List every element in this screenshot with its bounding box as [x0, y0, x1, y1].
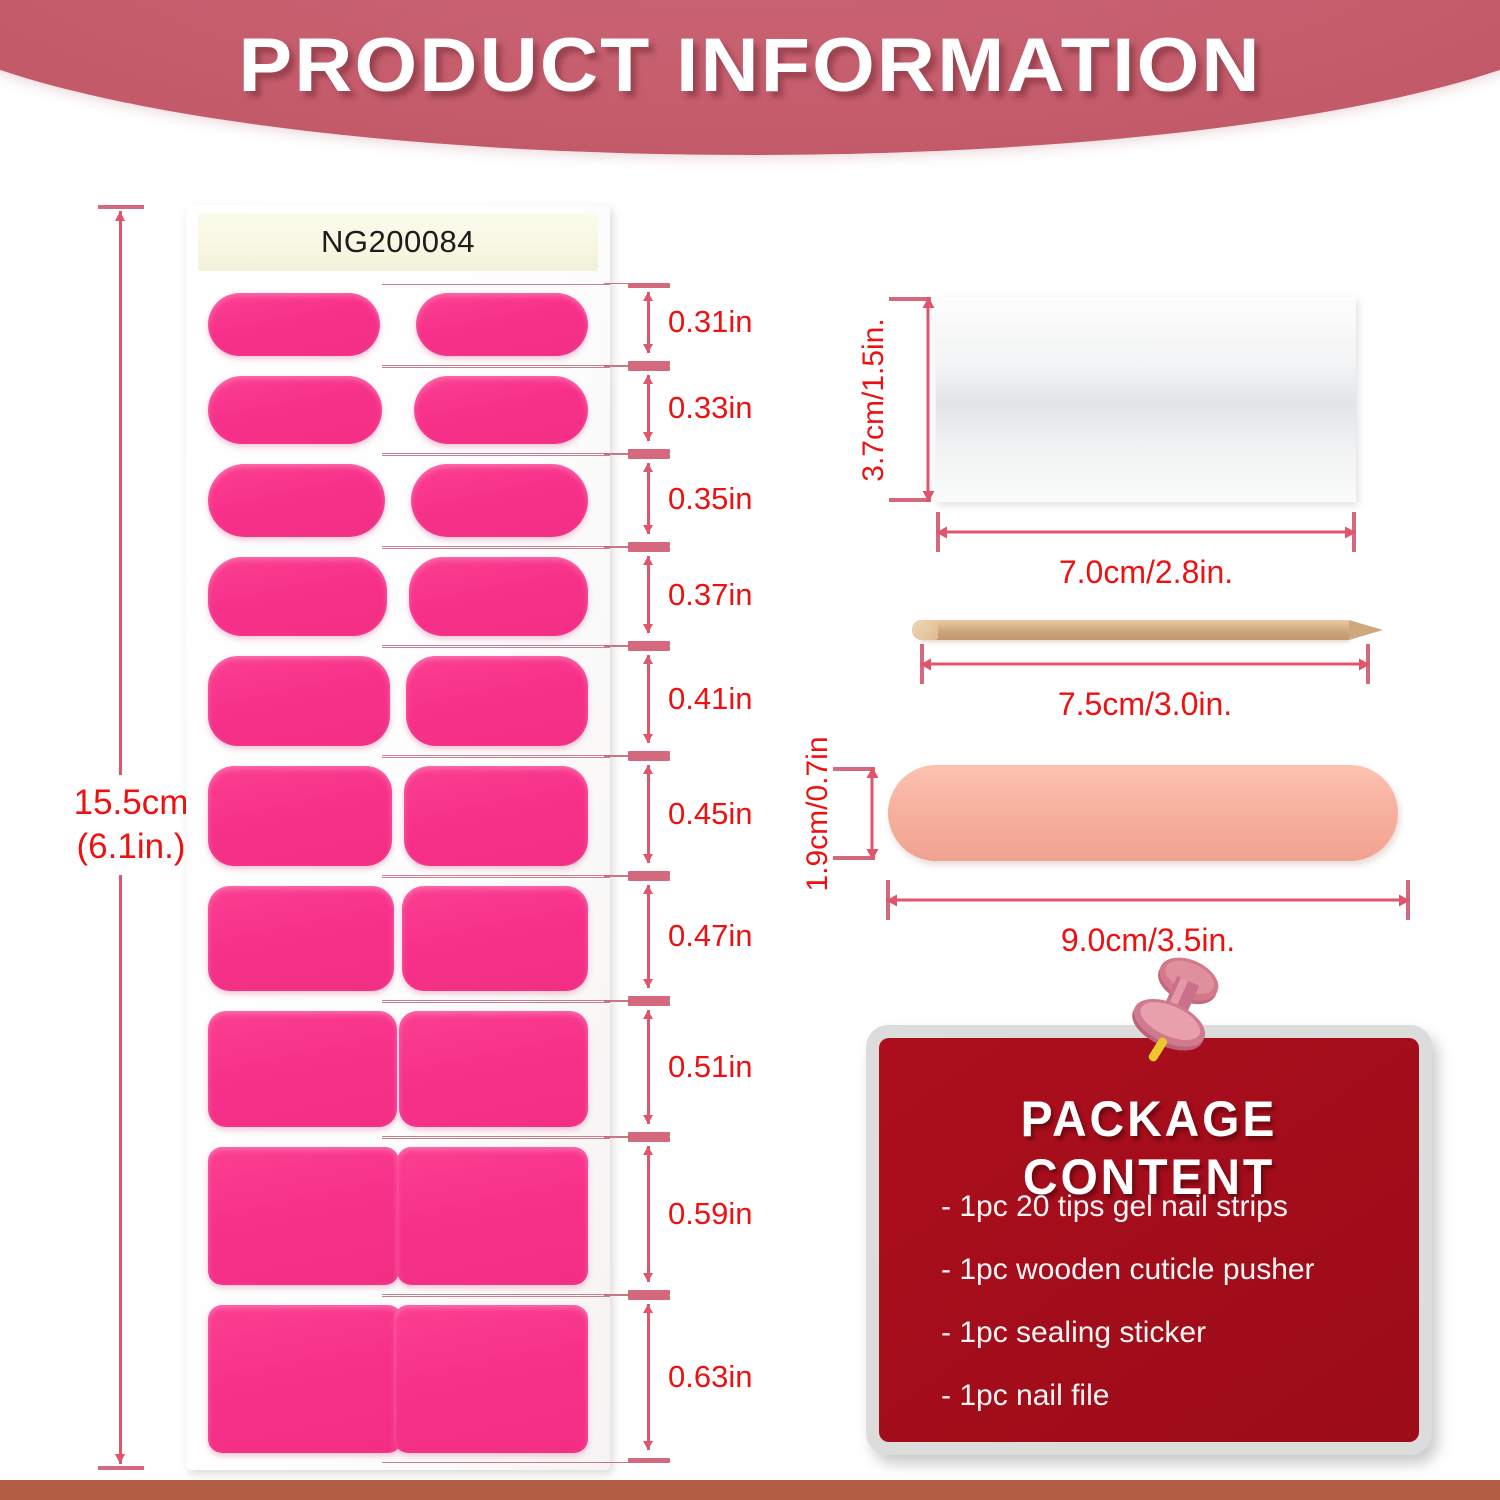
row-guide-line	[382, 1296, 610, 1297]
footer-bar	[0, 1480, 1500, 1500]
row-leader-line	[604, 1001, 630, 1002]
row-dimension-arrow	[647, 375, 650, 441]
row-dimension-arrow	[647, 1010, 650, 1124]
row-dimension-label: 0.33in	[668, 390, 752, 426]
pushpin-icon	[1106, 955, 1236, 1080]
row-dimension-arrow	[647, 655, 650, 742]
total-height-in: (6.1in.)	[56, 825, 206, 869]
nail-strip[interactable]	[409, 557, 588, 636]
row-leader-line	[604, 454, 630, 455]
row-dimension-label: 0.41in	[668, 681, 752, 717]
package-content-item: - 1pc 20 tips gel nail strips	[941, 1190, 1395, 1224]
nail-strip[interactable]	[208, 1305, 402, 1453]
row-guide-line	[382, 548, 610, 549]
nail-strip-row	[186, 646, 610, 755]
nail-strip-grid	[186, 283, 610, 1463]
nail-strip[interactable]	[406, 656, 588, 745]
nail-strip-row	[186, 1001, 610, 1137]
row-guide-line	[382, 367, 610, 368]
row-dimension-tick	[628, 1295, 670, 1300]
row-dimension-arrow	[647, 765, 650, 863]
row-dimension-tick	[628, 1458, 670, 1463]
package-content-panel: PACKAGE CONTENT - 1pc 20 tips gel nail s…	[879, 1038, 1419, 1442]
row-leader-line	[604, 756, 630, 757]
row-guide-line	[382, 877, 610, 878]
row-guide-line	[382, 1002, 610, 1003]
nail-strip[interactable]	[399, 1011, 588, 1127]
sticker-height-dimension: 3.7cm/1.5in.	[908, 297, 948, 502]
nail-strip-row	[186, 366, 610, 454]
row-dimension-label: 0.35in	[668, 481, 752, 517]
total-tick-top	[98, 205, 144, 209]
nail-strip-row	[186, 756, 610, 876]
pusher-length-label: 7.5cm/3.0in.	[920, 686, 1370, 723]
nail-strip[interactable]	[414, 376, 588, 444]
row-dimension-label: 0.37in	[668, 577, 752, 613]
sticker-height-label: 3.7cm/1.5in.	[857, 318, 891, 481]
row-leader-line	[604, 1137, 630, 1138]
nail-strip[interactable]	[208, 464, 385, 537]
row-dimension-arrow	[647, 463, 650, 534]
row-leader-line	[604, 283, 630, 284]
row-dimension-arrow	[647, 1146, 650, 1282]
row-leader-line	[604, 547, 630, 548]
row-guide-line	[382, 1462, 610, 1463]
row-dimension-arrow	[647, 1304, 650, 1450]
total-tick-bottom	[98, 1466, 144, 1470]
package-content-item: - 1pc sealing sticker	[941, 1316, 1395, 1350]
nail-strip[interactable]	[208, 376, 382, 444]
row-leader-line	[604, 1295, 630, 1296]
nail-strip-row	[186, 1137, 610, 1295]
row-leader-line	[604, 876, 630, 877]
nail-strip[interactable]	[208, 1011, 397, 1127]
row-dimension-tick	[628, 283, 670, 288]
row-dimension-label: 0.63in	[668, 1359, 752, 1395]
row-dimension-arrow	[647, 292, 650, 353]
row-guide-line	[382, 757, 610, 758]
nail-strip[interactable]	[402, 886, 588, 991]
row-dimension-tick	[628, 1001, 670, 1006]
nail-strip[interactable]	[208, 766, 392, 866]
nail-strip-sheet[interactable]: NG200084	[186, 205, 610, 1470]
row-dimension-label: 0.31in	[668, 304, 752, 340]
nail-strip[interactable]	[394, 1305, 588, 1453]
nail-strip-row	[186, 283, 610, 366]
nail-strip[interactable]	[208, 656, 390, 745]
row-guide-line	[382, 1138, 610, 1139]
pusher-length-arrow	[920, 663, 1370, 666]
row-dimension-label: 0.47in	[668, 918, 752, 954]
row-leader-line	[604, 366, 630, 367]
product-code-text: NG200084	[321, 224, 475, 260]
nail-strip[interactable]	[404, 766, 588, 866]
sticker-width-label: 7.0cm/2.8in.	[936, 554, 1356, 591]
file-height-arrow	[871, 767, 874, 860]
pusher-length-dimension: 7.5cm/3.0in.	[920, 662, 1370, 666]
pusher-body	[920, 620, 1350, 640]
row-guide-line	[382, 455, 610, 456]
nail-strip[interactable]	[208, 557, 387, 636]
row-dimension-tick	[628, 454, 670, 459]
pusher-pointed-tip	[1349, 620, 1383, 640]
nail-strip[interactable]	[411, 464, 588, 537]
sealing-sticker	[936, 297, 1356, 502]
file-height-dimension: 1.9cm/0.7in	[852, 767, 892, 860]
row-guide-line	[382, 284, 610, 285]
sheet-total-height-dimension: 15.5cm (6.1in.)	[70, 205, 190, 1470]
row-dimension-arrow	[647, 556, 650, 633]
pusher-beveled-end	[912, 620, 938, 640]
file-height-label: 1.9cm/0.7in	[801, 736, 835, 891]
nail-strip[interactable]	[416, 293, 588, 356]
package-content-item: - 1pc wooden cuticle pusher	[941, 1253, 1395, 1287]
product-information-infographic: PRODUCT INFORMATION 15.5cm (6.1in.) NG20…	[0, 0, 1500, 1500]
nail-strip-row	[186, 454, 610, 547]
package-content-list: - 1pc 20 tips gel nail strips- 1pc woode…	[941, 1190, 1395, 1442]
file-width-arrow	[886, 899, 1410, 902]
row-dimension-tick	[628, 876, 670, 881]
row-dimension-tick	[628, 366, 670, 371]
nail-strip[interactable]	[208, 293, 380, 356]
nail-strip[interactable]	[397, 1147, 588, 1285]
row-dimension-label: 0.45in	[668, 796, 752, 832]
row-leader-line	[604, 1462, 630, 1463]
nail-strip-row	[186, 547, 610, 646]
sticker-height-arrow	[927, 297, 930, 502]
row-dimension-label: 0.59in	[668, 1196, 752, 1232]
package-content-title: PACKAGE CONTENT	[890, 1090, 1408, 1206]
file-width-dimension: 9.0cm/3.5in.	[886, 898, 1410, 902]
sticker-width-dimension: 7.0cm/2.8in.	[936, 530, 1356, 534]
nail-strip[interactable]	[208, 1147, 399, 1285]
row-dimension-tick	[628, 751, 670, 756]
sticker-width-arrow	[936, 531, 1356, 534]
row-dimension-tick	[628, 756, 670, 761]
nail-file	[888, 765, 1398, 861]
wooden-cuticle-pusher	[912, 612, 1382, 648]
product-code-label: NG200084	[198, 213, 598, 271]
row-dimension-tick	[628, 547, 670, 552]
row-dimension-tick	[628, 646, 670, 651]
row-dimension-tick	[628, 1137, 670, 1142]
row-dimension-column: 0.31in0.33in0.35in0.37in0.41in0.45in0.47…	[612, 205, 762, 1470]
row-dimension-arrow	[647, 885, 650, 988]
file-width-label: 9.0cm/3.5in.	[886, 922, 1410, 959]
nail-strip-row	[186, 1295, 610, 1463]
page-title: PRODUCT INFORMATION	[0, 22, 1500, 109]
nail-strip-row	[186, 876, 610, 1001]
total-height-cm: 15.5cm	[56, 781, 206, 825]
row-dimension-label: 0.51in	[668, 1049, 752, 1085]
package-content-item: - 1pc nail file	[941, 1379, 1395, 1413]
sheet-total-height-label: 15.5cm (6.1in.)	[56, 775, 206, 875]
row-leader-line	[604, 646, 630, 647]
nail-strip[interactable]	[208, 886, 394, 991]
row-dimension-tick	[628, 871, 670, 876]
package-content-card: PACKAGE CONTENT - 1pc 20 tips gel nail s…	[866, 1025, 1432, 1455]
row-guide-line	[382, 647, 610, 648]
